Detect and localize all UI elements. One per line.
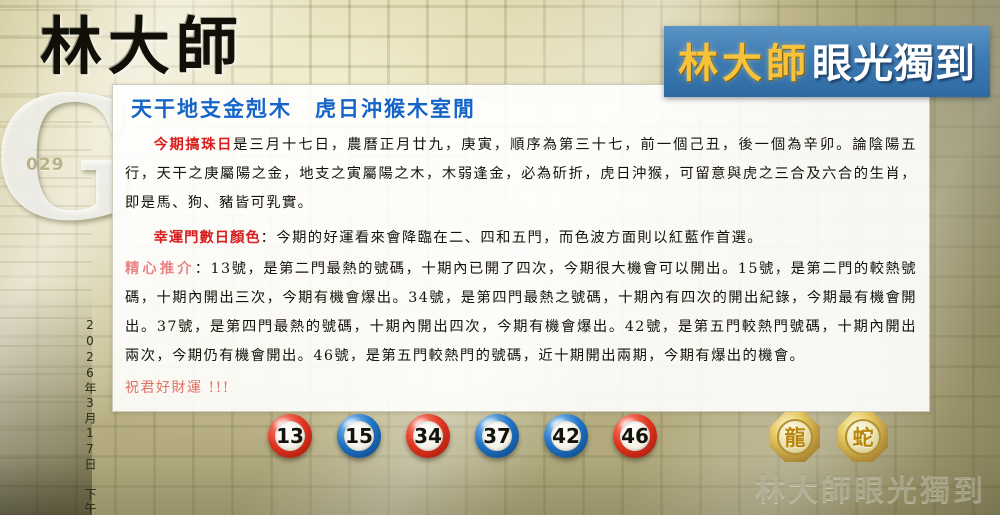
masthead-title: 林大師	[40, 16, 244, 78]
banner-slogan-text: 眼光獨到	[812, 31, 976, 89]
background-watermark: 林大師眼光獨到	[755, 465, 986, 509]
closing-wish: 祝君好財運 !!!	[125, 377, 919, 397]
paragraph-forecast-label: 今期搞珠日	[154, 137, 234, 153]
zodiac-medal-row: 龍 蛇	[770, 412, 888, 462]
decorative-letter-g: G	[0, 74, 129, 244]
lottery-ball-number: 13	[276, 424, 304, 448]
zodiac-medal-dragon: 龍	[770, 412, 820, 462]
paragraph-picks-text: ：13號，是第二門最熱的號碼，十期內已開了四次，今期很大機會可以開出。15號，是…	[125, 261, 917, 364]
lottery-ball: 37	[475, 414, 519, 458]
paragraph-forecast-text: 是三月十七日，農曆正月廿九，庚寅，順序為第三十七，前一個己丑，後一個為辛卯。論陰…	[125, 137, 917, 211]
paragraph-lucky-text: ：今期的好運看來會降臨在二、四和五門，而色波方面則以紅藍作首選。	[261, 230, 763, 246]
paragraph-picks: 精心推介：13號，是第二門最熱的號碼，十期內已開了四次，今期很大機會可以開出。1…	[125, 255, 917, 371]
lottery-ball-number: 46	[621, 424, 649, 448]
issue-number: 029	[26, 155, 65, 175]
lottery-ball-row: 13 15 34 37 42 46	[268, 414, 657, 458]
lottery-ball: 34	[406, 414, 450, 458]
article-headline: 天干地支金剋木 虎日沖猴木室閒	[131, 93, 919, 123]
zodiac-medal-snake: 蛇	[838, 412, 888, 462]
paragraph-lucky-label: 幸運門數日顏色	[154, 230, 261, 246]
article-card: 天干地支金剋木 虎日沖猴木室閒 今期搞珠日是三月十七日，農曆正月廿九，庚寅，順序…	[112, 84, 930, 412]
paragraph-picks-label: 精心推介	[125, 261, 195, 277]
lottery-ball: 46	[613, 414, 657, 458]
zodiac-glyph: 龍	[785, 422, 806, 452]
lottery-ball: 13	[268, 414, 312, 458]
zodiac-glyph: 蛇	[853, 422, 874, 452]
paragraph-lucky: 幸運門數日顏色：今期的好運看來會降臨在二、四和五門，而色波方面則以紅藍作首選。	[125, 224, 917, 253]
slogan-banner: 林大師 眼光獨到	[664, 26, 990, 97]
lottery-ball-number: 37	[483, 424, 511, 448]
lottery-ball-number: 42	[552, 424, 580, 448]
banner-brand-text: 林大師	[678, 31, 810, 89]
lottery-ball: 42	[544, 414, 588, 458]
paragraph-forecast: 今期搞珠日是三月十七日，農曆正月廿九，庚寅，順序為第三十七，前一個己丑，後一個為…	[125, 131, 917, 218]
lottery-ball: 15	[337, 414, 381, 458]
lottery-ball-number: 15	[345, 424, 373, 448]
publish-date-vertical: 2026年3月17日 下午六時準斷	[82, 318, 99, 515]
lottery-ball-number: 34	[414, 424, 442, 448]
poster-canvas: G 029 2026年3月17日 下午六時準斷 林大師 林大師 眼光獨到 天干地…	[0, 0, 1000, 515]
